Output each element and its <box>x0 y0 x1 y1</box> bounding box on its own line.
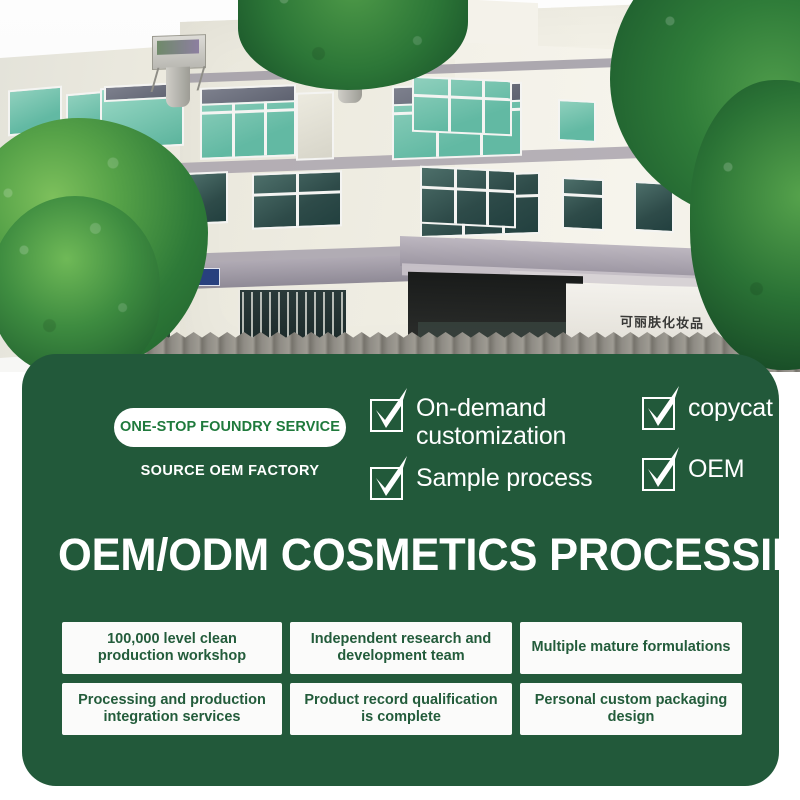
check-mark-icon <box>643 447 683 489</box>
window <box>412 76 512 137</box>
check-mark-icon <box>371 456 411 498</box>
feature-label: Personal custom packaging design <box>528 692 734 727</box>
window-transom <box>200 84 296 106</box>
checklist-column-left: On-demand customization Sample process <box>370 394 610 514</box>
checklist-label: On-demand customization <box>416 394 610 450</box>
checklist-item: OEM <box>642 455 792 491</box>
feature-cell: Product record qualification is complete <box>290 683 512 735</box>
feature-cell: Independent research and development tea… <box>290 622 512 674</box>
checklist-item: Sample process <box>370 464 610 500</box>
checklist-label: copycat <box>688 394 773 422</box>
wall-sign-text: 可丽肤化妆品 <box>620 311 704 332</box>
source-factory-subtitle: SOURCE OEM FACTORY <box>106 463 354 479</box>
feature-label: Independent research and development tea… <box>298 631 504 666</box>
check-box-icon <box>370 467 403 500</box>
feature-row: Processing and production integration se… <box>62 683 742 735</box>
checklist-label: Sample process <box>416 464 592 492</box>
feature-cell: 100,000 level clean production workshop <box>62 622 282 674</box>
window <box>420 166 516 229</box>
checklist-column-right: copycat OEM <box>642 394 792 505</box>
window <box>562 177 604 231</box>
feature-label: Multiple mature formulations <box>532 639 731 656</box>
feature-cell: Processing and production integration se… <box>62 683 282 735</box>
tree-left-lower <box>0 196 160 372</box>
feature-cell: Multiple mature formulations <box>520 622 742 674</box>
check-box-icon <box>370 399 403 432</box>
factory-building-photo: 可丽肤化妆品 <box>0 0 800 372</box>
checklist-item: copycat <box>642 394 792 430</box>
window <box>558 99 596 143</box>
window <box>252 170 342 229</box>
feature-label: Processing and production integration se… <box>70 692 274 727</box>
green-info-card: ONE-STOP FOUNDRY SERVICE SOURCE OEM FACT… <box>22 354 779 786</box>
window <box>296 91 334 160</box>
one-stop-service-pill: ONE-STOP FOUNDRY SERVICE <box>114 408 346 447</box>
badge-block: ONE-STOP FOUNDRY SERVICE SOURCE OEM FACT… <box>106 408 354 479</box>
checklist-item: On-demand customization <box>370 394 610 450</box>
pill-label: ONE-STOP FOUNDRY SERVICE <box>120 419 340 435</box>
check-mark-icon <box>371 388 411 430</box>
page-title: OEM/ODM COSMETICS PROCESSING <box>58 532 753 577</box>
checklist-label: OEM <box>688 455 744 483</box>
feature-label: 100,000 level clean production workshop <box>70 631 274 666</box>
feature-label: Product record qualification is complete <box>298 692 504 727</box>
feature-row: 100,000 level clean production workshop … <box>62 622 742 674</box>
feature-grid: 100,000 level clean production workshop … <box>62 622 742 744</box>
feature-cell: Personal custom packaging design <box>520 683 742 735</box>
promo-banner: 可丽肤化妆品 ONE-STOP FOUNDRY SERVICE SOURCE O… <box>0 0 800 800</box>
check-mark-icon <box>643 386 683 428</box>
check-box-icon <box>642 397 675 430</box>
check-box-icon <box>642 458 675 491</box>
